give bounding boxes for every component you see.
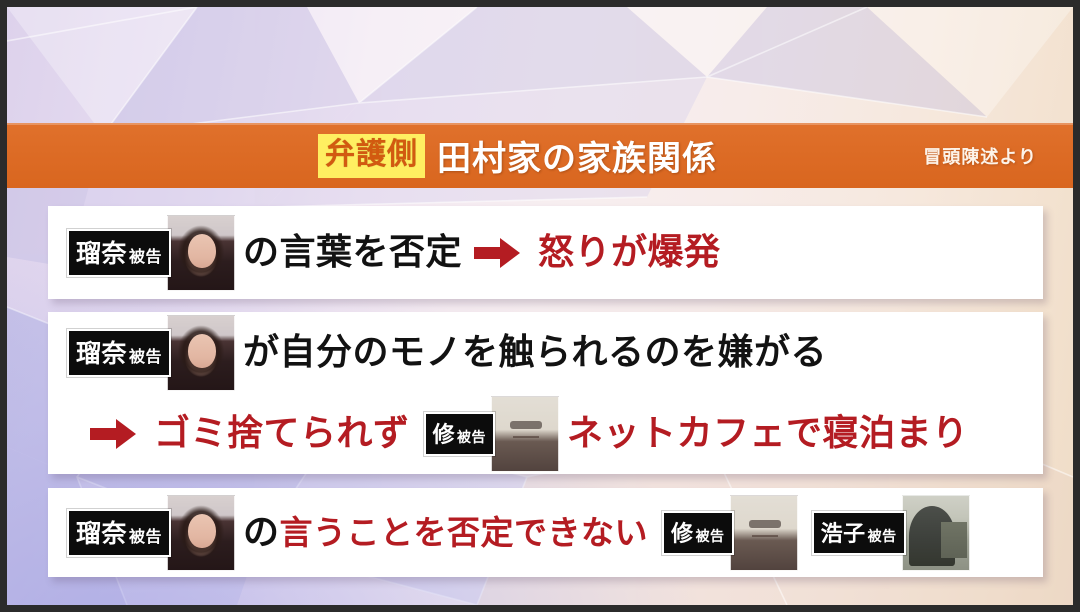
statement-text-emphasis: ゴミ捨てられず bbox=[154, 416, 410, 452]
page-title: 田村家の家族関係 bbox=[437, 131, 717, 180]
statement-line: 瑠奈 被告 が自分のモノを触られるのを嫌がる bbox=[48, 312, 1043, 393]
right-arrow-icon bbox=[474, 238, 520, 268]
name-tag-name: 瑠奈 bbox=[76, 234, 127, 270]
portrait-photo-hiroko bbox=[902, 495, 970, 571]
name-tag-osamu: 修 被告 bbox=[424, 412, 496, 456]
screenshot-root: 弁護側 田村家の家族関係 冒頭陳述より 瑠奈 被告 の言葉を否定 怒りが爆発 bbox=[0, 0, 1080, 612]
name-tag-hiroko: 浩子 被告 bbox=[812, 511, 906, 555]
name-tag-name: 修 bbox=[433, 417, 456, 449]
name-tag-suffix: 被告 bbox=[696, 526, 725, 546]
name-tag-suffix: 被告 bbox=[129, 343, 162, 367]
name-tag-runa: 瑠奈 被告 bbox=[67, 329, 171, 377]
statement-card-3: 瑠奈 被告 の 言うことを否定できない 修 被告 浩子 被告 bbox=[48, 488, 1043, 577]
name-tag-runa: 瑠奈 被告 bbox=[67, 509, 171, 557]
portrait-photo-runa bbox=[167, 315, 235, 391]
statement-line: 瑠奈 被告 の 言うことを否定できない 修 被告 浩子 被告 bbox=[48, 488, 1043, 577]
name-tag-runa: 瑠奈 被告 bbox=[67, 229, 171, 277]
statement-text-emphasis: 言うことを否定できない bbox=[280, 516, 649, 549]
name-tag-suffix: 被告 bbox=[868, 526, 897, 546]
portrait-photo-runa bbox=[167, 215, 235, 291]
statement-text: の言葉を否定 bbox=[243, 235, 462, 271]
name-tag-suffix: 被告 bbox=[457, 427, 486, 447]
statement-text: の bbox=[243, 515, 280, 551]
statement-card-2: 瑠奈 被告 が自分のモノを触られるのを嫌がる ゴミ捨てられず 修 被告 bbox=[48, 312, 1043, 474]
portrait-photo-runa bbox=[167, 495, 235, 571]
name-tag-name: 浩子 bbox=[821, 516, 866, 548]
portrait-photo-osamu bbox=[491, 396, 559, 472]
name-tag-suffix: 被告 bbox=[129, 243, 162, 267]
statement-card-1: 瑠奈 被告 の言葉を否定 怒りが爆発 bbox=[48, 206, 1043, 299]
title-band: 弁護側 田村家の家族関係 冒頭陳述より bbox=[7, 123, 1073, 188]
name-tag-suffix: 被告 bbox=[129, 523, 162, 547]
statement-text-emphasis: 怒りが爆発 bbox=[538, 235, 721, 271]
name-tag-name: 瑠奈 bbox=[76, 514, 127, 550]
slide-background: 弁護側 田村家の家族関係 冒頭陳述より 瑠奈 被告 の言葉を否定 怒りが爆発 bbox=[7, 7, 1073, 605]
defense-side-badge: 弁護側 bbox=[318, 134, 425, 178]
right-arrow-icon bbox=[90, 419, 136, 449]
portrait-photo-osamu bbox=[730, 495, 798, 571]
name-tag-name: 修 bbox=[671, 516, 694, 548]
statement-text: が自分のモノを触られるのを嫌がる bbox=[243, 335, 827, 371]
statement-text-emphasis: ネットカフェで寝泊まり bbox=[567, 416, 969, 452]
statement-line: ゴミ捨てられず 修 被告 ネットカフェで寝泊まり bbox=[48, 393, 1043, 474]
source-note: 冒頭陳述より bbox=[923, 143, 1037, 169]
name-tag-osamu: 修 被告 bbox=[662, 511, 734, 555]
statement-line: 瑠奈 被告 の言葉を否定 怒りが爆発 bbox=[48, 206, 1043, 299]
name-tag-name: 瑠奈 bbox=[76, 334, 127, 370]
